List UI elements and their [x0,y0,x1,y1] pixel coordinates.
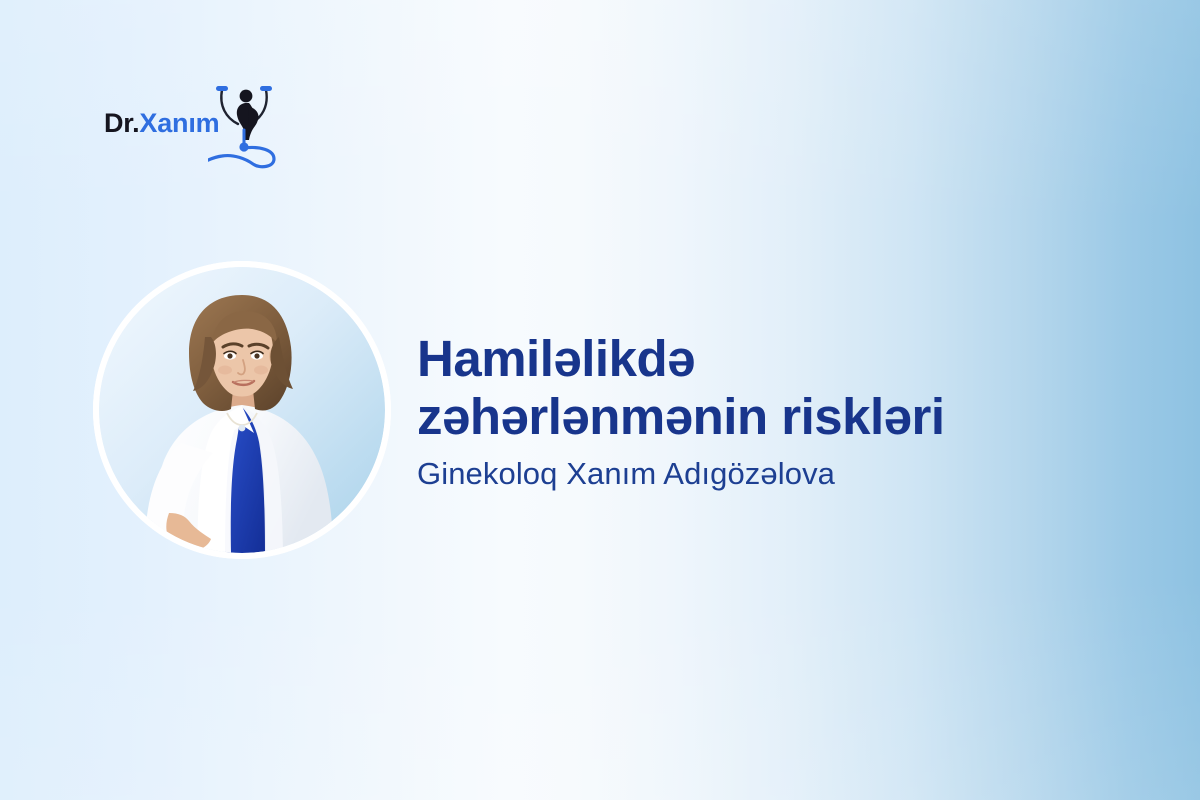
brand-logo[interactable]: Dr.Xanım [104,74,284,174]
doctor-portrait [93,261,391,559]
portrait-image [99,267,385,553]
promo-banner: Dr.Xanım [0,0,1200,800]
subtitle: Ginekoloq Xanım Adıgözəlova [417,455,1117,492]
stethoscope-pregnant-woman-icon [208,74,292,174]
headline-line-1: Hamiləlikdə [417,330,1117,388]
headline-block: Hamiləlikdə zəhərlənmənin riskləri Ginek… [417,330,1117,492]
page-title: Hamiləlikdə zəhərlənmənin riskləri [417,330,1117,445]
headline-line-2: zəhərlənmənin riskləri [417,388,1117,446]
logo-prefix-text: Dr. [104,108,139,138]
logo-wordmark: Dr.Xanım [104,110,219,137]
